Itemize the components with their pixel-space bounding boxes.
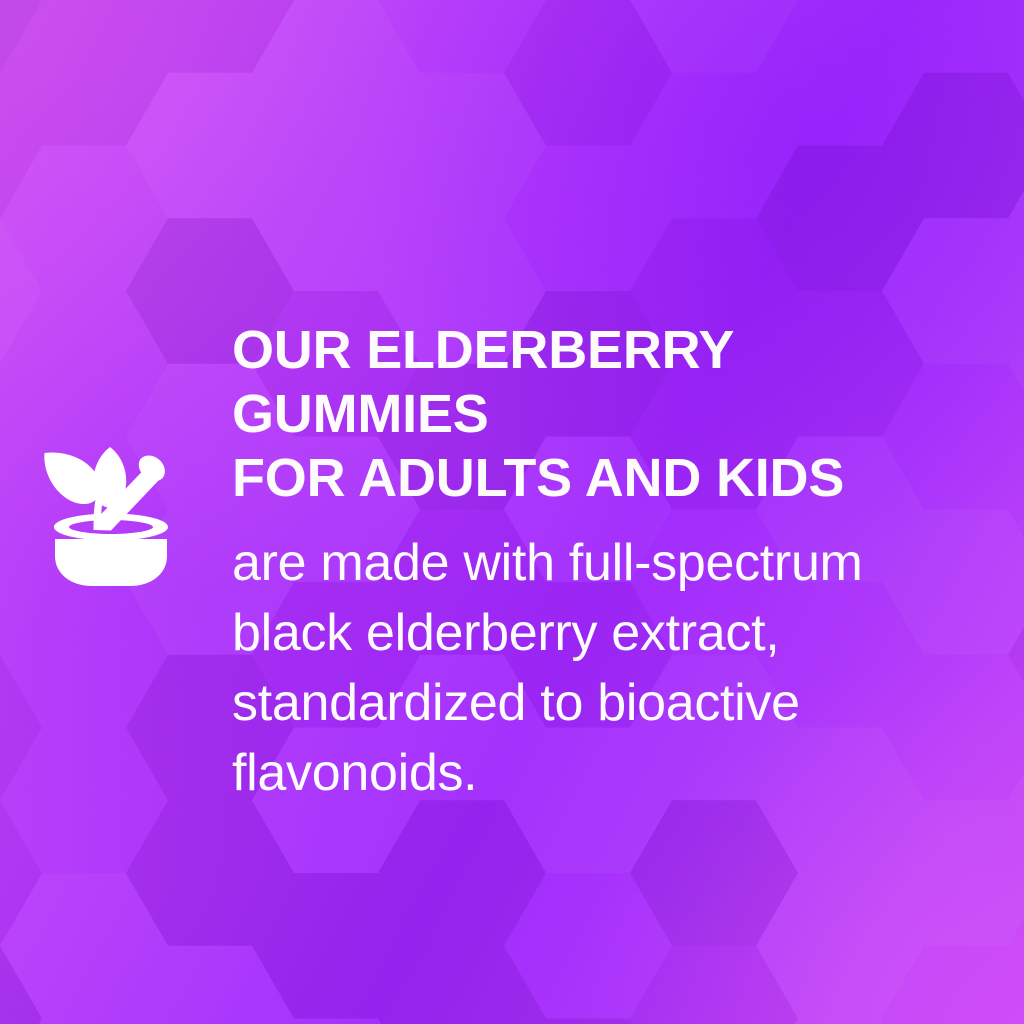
content-layer: OUR ELDERBERRY GUMMIES FOR ADULTS AND KI… [0,0,1024,1024]
mortar-and-pestle-icon [38,444,184,590]
text-block: OUR ELDERBERRY GUMMIES FOR ADULTS AND KI… [232,318,1004,808]
subcopy: are made with full-spectrum black elderb… [232,510,1004,808]
headline: OUR ELDERBERRY GUMMIES FOR ADULTS AND KI… [232,318,1004,510]
promo-graphic: OUR ELDERBERRY GUMMIES FOR ADULTS AND KI… [0,0,1024,1024]
